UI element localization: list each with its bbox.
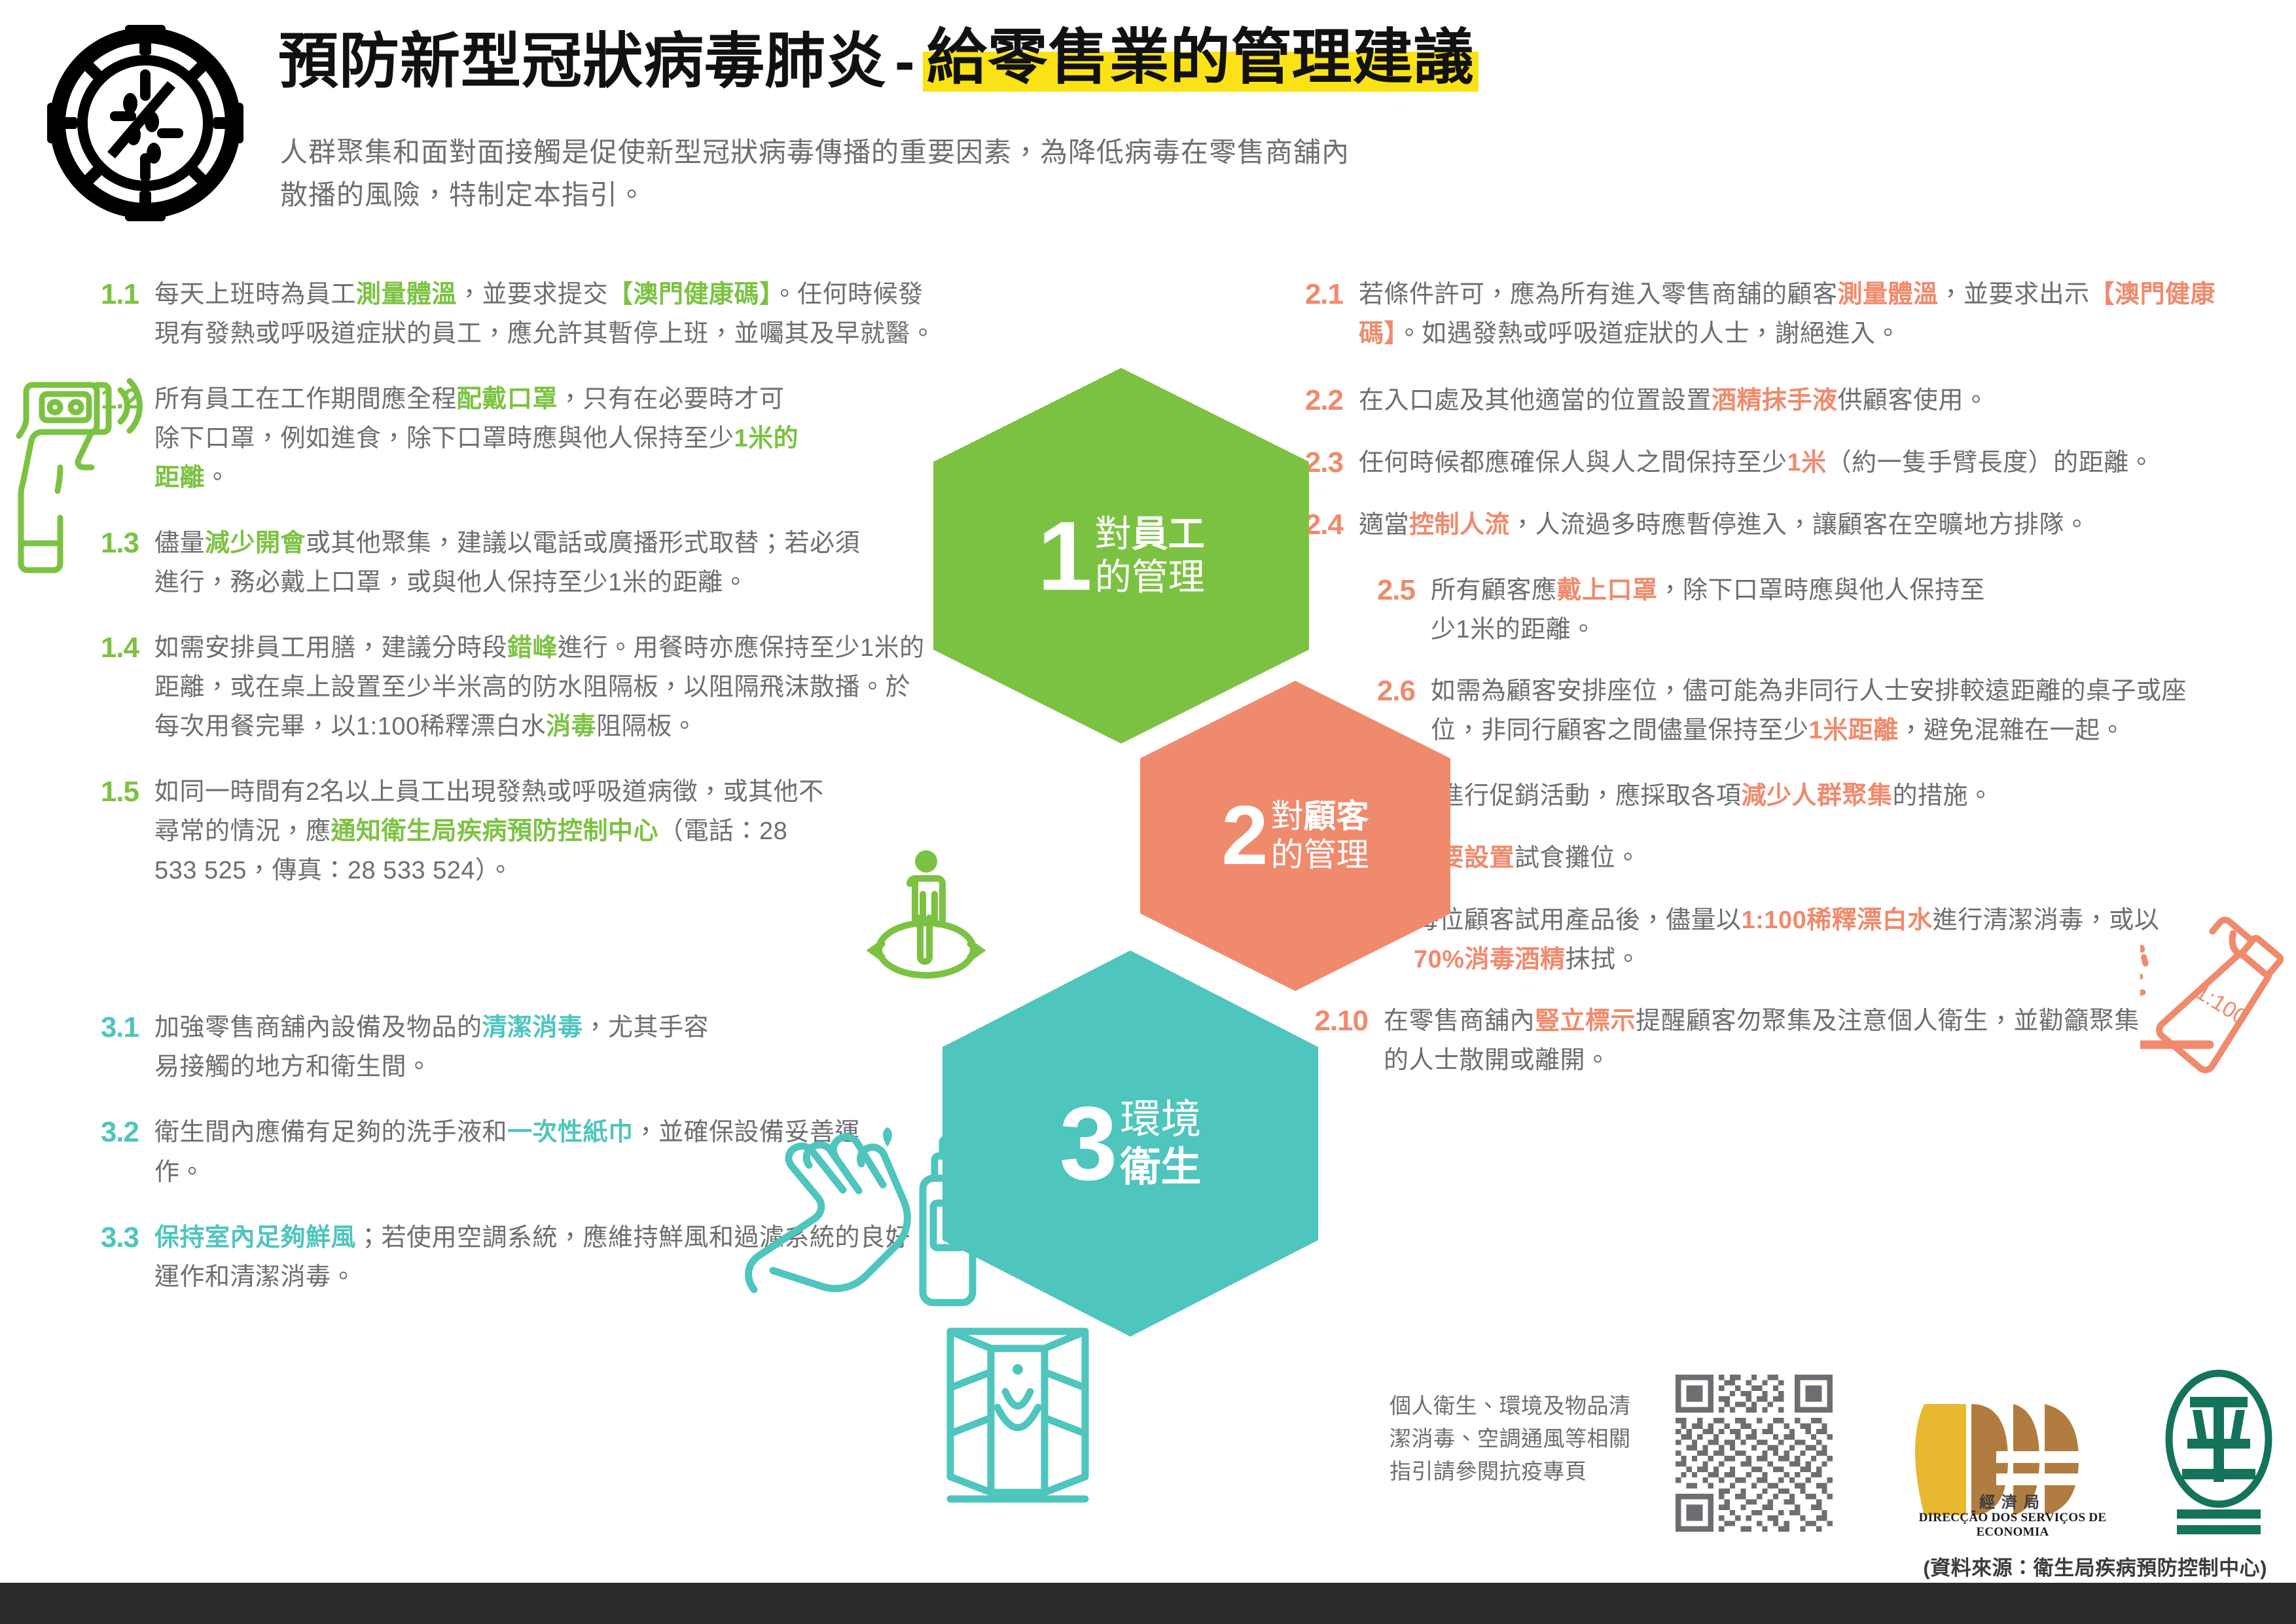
guideline-item-1-4: 1.4 如需安排員工用膳，建議分時段錯峰進行。用餐時亦應保持至少1米的距離，或在… <box>79 628 942 746</box>
badge-label: 對顧客 的管理 <box>1271 797 1369 875</box>
badge-label-line2: 的管理 <box>1271 836 1369 875</box>
guideline-item-2-4: 2.4 適當控制人流，人流過多時應暫停進入，讓顧客在空曠地方排隊。 <box>1270 505 2245 545</box>
item-text: 所有員工在工作期間應全程配戴口罩，只有在必要時才可除下口罩，例如進食，除下口罩時… <box>154 380 809 497</box>
dse-logo-label-pt: DIRECÇÃO DOS SERVIÇOS DE ECONOMIA <box>1888 1511 2137 1540</box>
item-number: 2.1 <box>1270 275 1343 315</box>
badge-label-line1: 環境 <box>1120 1096 1201 1144</box>
footer-note-line-1: 個人衛生、環境及物品清 <box>1390 1390 1631 1422</box>
bottom-bar <box>0 1583 2296 1624</box>
footer-note-line-2: 潔消毒、空調通風等相關 <box>1390 1422 1631 1455</box>
item-text: 任何時候都應確保人與人之間保持至少1米（約一隻手臂長度）的距離。 <box>1359 443 2229 482</box>
guideline-item-3-1: 3.1 加強零售商舖內設備及物品的清潔消毒，尤其手容易接觸的地方和衛生間。 <box>79 1008 942 1087</box>
svg-text:1:100: 1:100 <box>2191 979 2251 1030</box>
badge-label: 環境 衛生 <box>1120 1096 1201 1191</box>
guideline-item-2-5: 2.5 所有顧客應戴上口罩，除下口罩時應與他人保持至少1米的距離。 <box>1342 571 2245 649</box>
item-text: 如進行促銷活動，應採取各項減少人群聚集的措施。 <box>1414 776 2245 816</box>
infrared-thermometer-icon <box>5 353 143 576</box>
guideline-item-1-5: 1.5 如同一時間有2名以上員工出現發熱或呼吸道病徵，或其他不尋常的情況，應通知… <box>79 772 942 890</box>
item-number: 2.5 <box>1342 571 1415 611</box>
item-number: 1.1 <box>79 275 139 315</box>
title-plain-part: 預防新型冠狀病毒肺炎 <box>278 31 887 92</box>
item-number: 2.2 <box>1270 381 1343 421</box>
item-text: 如需安排員工用膳，建議分時段錯峰進行。用餐時亦應保持至少1米的距離，或在桌上設置… <box>154 628 933 746</box>
item-text: 不要設置試食攤位。 <box>1414 839 2245 878</box>
spray-bottle-icon: 1:100 <box>2140 916 2296 1106</box>
item-text: 如同一時間有2名以上員工出現發熱或呼吸道病徵，或其他不尋常的情況，應通知衛生局疾… <box>154 772 829 890</box>
item-text: 每位顧客試用產品後，儘量以1:100稀釋漂白水進行清潔消毒，或以70%消毒酒精抹… <box>1414 901 2199 979</box>
page-subtitle: 人群聚集和面對面接觸是促使新型冠狀病毒傳播的重要因素，為降低病毒在零售商舖內 散… <box>280 131 1350 216</box>
item-text: 加強零售商舖內設備及物品的清潔消毒，尤其手容易接觸的地方和衛生間。 <box>154 1008 730 1087</box>
badge-number: 2 <box>1221 797 1268 875</box>
header: 預防新型冠狀病毒肺炎 - 給零售業的管理建議 人群聚集和面對面接觸是促使新型冠狀… <box>0 0 2296 262</box>
item-text: 適當控制人流，人流過多時應暫停進入，讓顧客在空曠地方排隊。 <box>1359 505 2245 545</box>
guideline-item-1-1: 1.1 每天上班時為員工測量體溫，並要求提交【澳門健康碼】。任何時候發現有發熱或… <box>79 275 942 353</box>
coronavirus-icon <box>47 25 243 221</box>
guideline-item-2-1: 2.1 若條件許可，應為所有進入零售商舖的顧客測量體溫，並要求出示【澳門健康碼】… <box>1270 275 2245 353</box>
badge-employee-management: 1 對員工 的管理 <box>933 368 1309 744</box>
right-column: 2.1 若條件許可，應為所有進入零售商舖的顧客測量體溫，並要求出示【澳門健康碼】… <box>1270 275 2245 1080</box>
qr-code[interactable] <box>1676 1375 1833 1532</box>
item-number: 1.5 <box>79 772 139 812</box>
badge-number: 3 <box>1060 1095 1118 1191</box>
guideline-item-1-3: 1.3 儘量減少開會或其他聚集，建議以電話或廣播形式取替；若必須進行，務必戴上口… <box>79 524 942 602</box>
page-title: 預防新型冠狀病毒肺炎 - 給零售業的管理建議 <box>278 27 1479 92</box>
subtitle-line-1: 人群聚集和面對面接觸是促使新型冠狀病毒傳播的重要因素，為降低病毒在零售商舖內 <box>280 131 1350 173</box>
guideline-item-2-6: 2.6 如需為顧客安排座位，儘可能為非同行人士安排較遠距離的桌子或座位，非同行顧… <box>1342 672 2245 750</box>
badge-label-bold: 員工 <box>1132 513 1205 554</box>
badge-label: 對員工 的管理 <box>1095 513 1205 599</box>
health-bureau-logo-icon <box>2153 1368 2284 1538</box>
item-text: 儘量減少開會或其他聚集，建議以電話或廣播形式取替；若必須進行，務必戴上口罩，或與… <box>154 524 861 602</box>
guideline-item-2-10: 2.10 在零售商舖內豎立標示提醒顧客勿聚集及注意個人衛生，並勸籲聚集的人士散開… <box>1270 1001 2245 1080</box>
item-number: 3.2 <box>79 1113 139 1153</box>
item-number: 3.1 <box>79 1008 139 1048</box>
guideline-item-2-2: 2.2 在入口處及其他適當的位置設置酒精抹手液供顧客使用。 <box>1270 381 2245 421</box>
badge-label-bold: 顧客 <box>1304 798 1369 835</box>
title-dash: - <box>887 31 923 92</box>
item-number: 3.3 <box>79 1218 139 1258</box>
item-number: 1.4 <box>79 628 139 668</box>
item-text: 在零售商舖內豎立標示提醒顧客勿聚集及注意個人衛生，並勸籲聚集的人士散開或離開。 <box>1384 1001 2143 1080</box>
title-highlight-part: 給零售業的管理建議 <box>923 27 1479 92</box>
item-text: 如需為顧客安排座位，儘可能為非同行人士安排較遠距離的桌子或座位，非同行顧客之間儘… <box>1431 672 2200 750</box>
subtitle-line-2: 散播的風險，特制定本指引。 <box>280 173 1350 216</box>
item-text: 所有顧客應戴上口罩，除下口罩時應與他人保持至少1米的距離。 <box>1431 571 2000 649</box>
guideline-item-2-3: 2.3 任何時候都應確保人與人之間保持至少1米（約一隻手臂長度）的距離。 <box>1270 443 2245 483</box>
dse-logo-label-cn: 經濟局 <box>1905 1489 2121 1512</box>
footer-note-line-3: 指引請參閱抗疫專頁 <box>1390 1455 1631 1488</box>
badge-label-line2: 衛生 <box>1120 1144 1201 1191</box>
badge-label-prefix: 對 <box>1095 513 1132 554</box>
item-number: 2.6 <box>1342 672 1415 712</box>
item-text: 每天上班時為員工測量體溫，並要求提交【澳門健康碼】。任何時候發現有發熱或呼吸道症… <box>154 275 942 353</box>
badge-label-prefix: 對 <box>1271 798 1304 835</box>
footer-note: 個人衛生、環境及物品清 潔消毒、空調通風等相關 指引請參閱抗疫專頁 <box>1390 1390 1631 1488</box>
badge-number: 1 <box>1037 511 1092 601</box>
person-distance-icon <box>851 844 1001 995</box>
badge-label-line2: 的管理 <box>1095 556 1205 599</box>
source-note: (資料來源：衛生局疾病預防控制中心) <box>1923 1551 2267 1581</box>
guideline-item-1-2: 1.2 所有員工在工作期間應全程配戴口罩，只有在必要時才可除下口罩，例如進食，除… <box>79 380 942 497</box>
item-text: 在入口處及其他適當的位置設置酒精抹手液供顧客使用。 <box>1359 381 2245 420</box>
item-text: 若條件許可，應為所有進入零售商舖的顧客測量體溫，並要求出示【澳門健康碼】。如遇發… <box>1359 275 2245 353</box>
